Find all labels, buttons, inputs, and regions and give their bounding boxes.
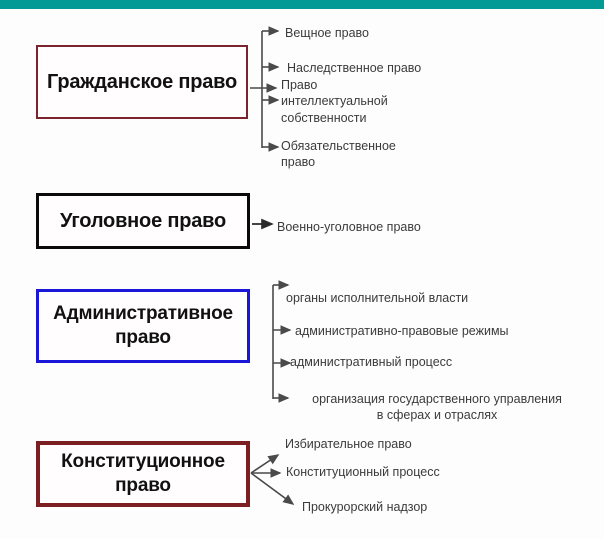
node-constitutional-law[interactable]: Конституционное право [36, 441, 250, 507]
leaf-civil-0[interactable]: Вещное право [285, 25, 369, 41]
leaf-administrative-2[interactable]: административный процесс [290, 354, 452, 370]
node-criminal-law[interactable]: Уголовное право [36, 193, 250, 249]
leaf-civil-3[interactable]: Обязательственное право [281, 138, 396, 171]
leaf-constitutional-2[interactable]: Прокурорский надзор [302, 499, 427, 515]
leaf-administrative-0[interactable]: органы исполнительной власти [286, 290, 468, 306]
leaf-civil-2[interactable]: Право интеллектуальной собственности [281, 77, 388, 126]
leaf-criminal-0[interactable]: Военно-уголовное право [277, 219, 421, 235]
leaf-constitutional-1[interactable]: Конституционный процесс [286, 464, 440, 480]
diagram-canvas: Гражданское право Вещное право Наследств… [0, 0, 604, 539]
leaf-administrative-1[interactable]: административно-правовые режимы [295, 323, 509, 339]
accent-top-bar [0, 0, 604, 9]
node-administrative-law[interactable]: Административное право [36, 289, 250, 363]
leaf-civil-1[interactable]: Наследственное право [287, 60, 421, 76]
leaf-administrative-3[interactable]: организация государственного управления … [284, 391, 590, 424]
leaf-constitutional-0[interactable]: Избирательное право [285, 436, 412, 452]
node-civil-law[interactable]: Гражданское право [36, 45, 248, 119]
